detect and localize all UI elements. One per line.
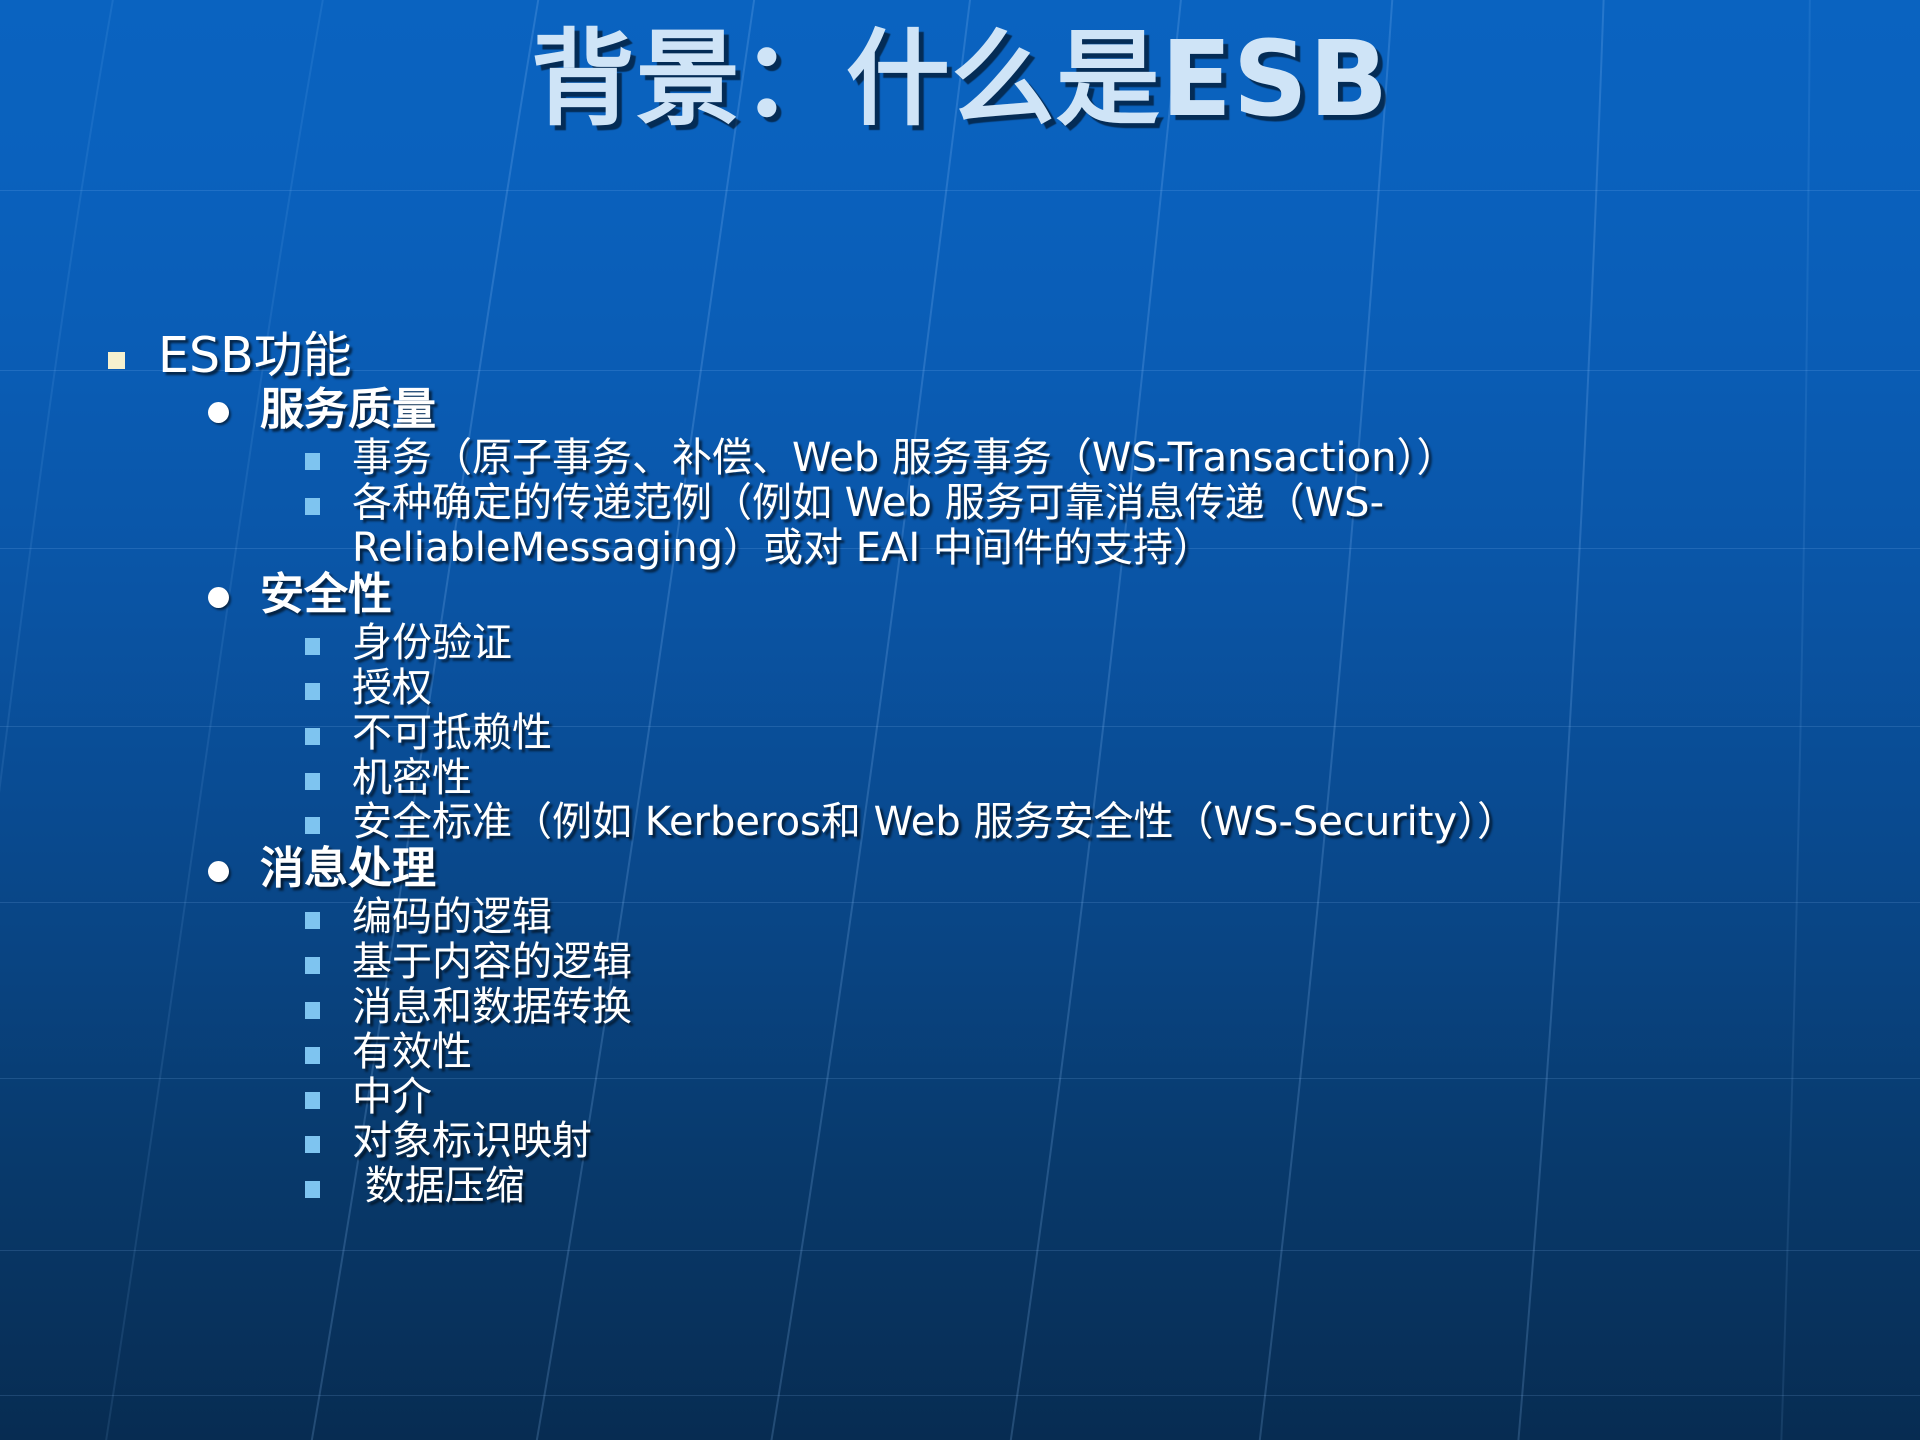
- outline-item-level3: 有效性: [305, 1030, 1920, 1075]
- outline-item-label: 安全标准（例如 Kerberos和 Web 服务安全性（WS-Security）…: [352, 800, 1517, 845]
- outline-item-label: 机密性: [352, 756, 472, 801]
- square-bullet-icon: [305, 756, 352, 790]
- square-bullet-glyph: [305, 638, 320, 655]
- square-bullet-icon: [305, 1075, 352, 1109]
- outline-item-level3: 对象标识映射: [305, 1119, 1920, 1164]
- square-bullet-glyph: [305, 1047, 320, 1064]
- outline-item-level3: 编码的逻辑: [305, 895, 1920, 940]
- square-bullet-glyph: [305, 1092, 320, 1109]
- round-bullet-glyph: [208, 402, 229, 423]
- outline-item-label: ESB功能: [158, 330, 352, 382]
- square-bullet-icon: [305, 1119, 352, 1153]
- outline-item-label: 服务质量: [260, 386, 436, 434]
- outline-item-label: 事务（原子事务、补偿、Web 服务事务（WS-Transaction））: [352, 436, 1456, 481]
- outline-item-level3: 安全标准（例如 Kerberos和 Web 服务安全性（WS-Security）…: [305, 800, 1920, 845]
- outline-item-level3: 不可抵赖性: [305, 711, 1920, 756]
- outline-item-label: 安全性: [260, 571, 392, 619]
- outline-item-level3: 基于内容的逻辑: [305, 940, 1920, 985]
- round-bullet-icon: [208, 386, 260, 423]
- square-bullet-glyph: [305, 683, 320, 700]
- outline-item-label: 中介: [352, 1075, 432, 1120]
- square-bullet-icon: [305, 436, 352, 470]
- outline-item-level3: 中介: [305, 1075, 1920, 1120]
- outline-item-label: 不可抵赖性: [352, 711, 552, 756]
- square-bullet-glyph: [108, 352, 125, 369]
- outline-item-level3: 数据压缩: [305, 1164, 1920, 1209]
- outline-item-level3: 消息和数据转换: [305, 985, 1920, 1030]
- outline-item-label: 对象标识映射: [352, 1119, 592, 1164]
- outline-item-level2: 安全性: [208, 571, 1920, 619]
- outline-item-level1: ESB功能: [108, 330, 1920, 382]
- square-bullet-icon: [305, 985, 352, 1019]
- outline-item-label: 有效性: [352, 1030, 472, 1075]
- outline-item-label: 编码的逻辑: [352, 895, 552, 940]
- square-bullet-glyph: [305, 912, 320, 929]
- square-bullet-icon: [305, 621, 352, 655]
- outline-item-level2: 服务质量: [208, 386, 1920, 434]
- outline-item-label: 各种确定的传递范例（例如 Web 服务可靠消息传递（WS-ReliableMes…: [352, 481, 1672, 571]
- square-bullet-icon: [305, 666, 352, 700]
- outline-item-label: 消息和数据转换: [352, 985, 632, 1030]
- square-bullet-glyph: [305, 957, 320, 974]
- square-bullet-glyph: [305, 498, 320, 515]
- outline-item-label: 数据压缩: [352, 1164, 525, 1209]
- square-bullet-icon: [305, 940, 352, 974]
- outline-item-level3: 事务（原子事务、补偿、Web 服务事务（WS-Transaction））: [305, 436, 1920, 481]
- square-bullet-glyph: [305, 453, 320, 470]
- outline-item-label: 授权: [352, 666, 432, 711]
- outline-item-level3: 机密性: [305, 756, 1920, 801]
- round-bullet-icon: [208, 845, 260, 882]
- square-bullet-icon: [305, 481, 352, 515]
- square-bullet-icon: [108, 330, 158, 369]
- square-bullet-glyph: [305, 728, 320, 745]
- round-bullet-glyph: [208, 861, 229, 882]
- slide-body-outline: ESB功能服务质量事务（原子事务、补偿、Web 服务事务（WS-Transact…: [0, 330, 1920, 1209]
- square-bullet-glyph: [305, 1181, 320, 1198]
- square-bullet-glyph: [305, 773, 320, 790]
- square-bullet-icon: [305, 895, 352, 929]
- outline-item-label: 身份验证: [352, 621, 512, 666]
- square-bullet-icon: [305, 1030, 352, 1064]
- slide-canvas: 背景：什么是ESB ESB功能服务质量事务（原子事务、补偿、Web 服务事务（W…: [0, 0, 1920, 1440]
- outline-item-level3: 各种确定的传递范例（例如 Web 服务可靠消息传递（WS-ReliableMes…: [305, 481, 1920, 571]
- square-bullet-glyph: [305, 1136, 320, 1153]
- outline-item-level3: 授权: [305, 666, 1920, 711]
- outline-item-level2: 消息处理: [208, 845, 1920, 893]
- square-bullet-icon: [305, 800, 352, 834]
- square-bullet-icon: [305, 1164, 352, 1198]
- square-bullet-glyph: [305, 1002, 320, 1019]
- round-bullet-glyph: [208, 587, 229, 608]
- outline-item-label: 消息处理: [260, 845, 436, 893]
- square-bullet-glyph: [305, 817, 320, 834]
- slide-title: 背景：什么是ESB: [0, 18, 1920, 141]
- outline-item-level3: 身份验证: [305, 621, 1920, 666]
- round-bullet-icon: [208, 571, 260, 608]
- outline-item-label: 基于内容的逻辑: [352, 940, 632, 985]
- square-bullet-icon: [305, 711, 352, 745]
